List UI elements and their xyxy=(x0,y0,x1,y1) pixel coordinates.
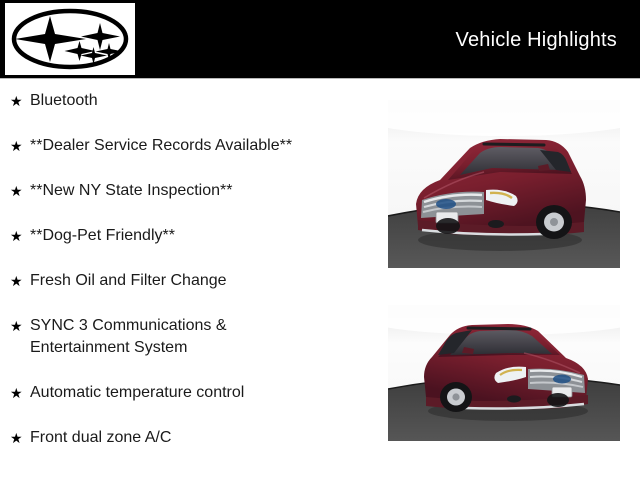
list-item: ★ Automatic temperature control xyxy=(0,382,380,404)
list-item: ★ Bluetooth xyxy=(0,90,380,112)
star-bullet-icon: ★ xyxy=(10,315,30,337)
vehicle-photo-front-left xyxy=(388,100,620,268)
list-item: ★ Fresh Oil and Filter Change xyxy=(0,270,380,292)
star-bullet-icon: ★ xyxy=(10,90,30,112)
list-item: ★ **Dog-Pet Friendly** xyxy=(0,225,380,247)
vehicle-photo-front-right-image xyxy=(388,305,620,441)
star-bullet-icon: ★ xyxy=(10,225,30,247)
vehicle-photo-front-right xyxy=(388,305,620,441)
subaru-logo-icon xyxy=(11,8,129,70)
list-item: ★ **Dealer Service Records Available** xyxy=(0,135,380,157)
feature-label: Bluetooth xyxy=(30,90,374,112)
star-bullet-icon: ★ xyxy=(10,382,30,404)
feature-label: **New NY State Inspection** xyxy=(30,180,374,202)
star-bullet-icon: ★ xyxy=(10,427,30,449)
list-item: ★ Front dual zone A/C xyxy=(0,427,380,449)
list-item: ★ SYNC 3 Communications & Entertainment … xyxy=(0,315,380,359)
feature-label: **Dog-Pet Friendly** xyxy=(30,225,374,247)
page-title: Vehicle Highlights xyxy=(456,28,617,52)
feature-label: Automatic temperature control xyxy=(30,382,374,404)
vehicle-photo-front-left-image xyxy=(388,100,620,268)
page-header: Vehicle Highlights xyxy=(0,0,640,78)
feature-label: SYNC 3 Communications & Entertainment Sy… xyxy=(30,315,374,359)
vehicle-highlights-list: ★ Bluetooth ★ **Dealer Service Records A… xyxy=(0,90,380,472)
subaru-logo xyxy=(5,3,135,75)
header-divider xyxy=(0,78,640,79)
star-bullet-icon: ★ xyxy=(10,135,30,157)
star-bullet-icon: ★ xyxy=(10,270,30,292)
feature-label: **Dealer Service Records Available** xyxy=(30,135,374,157)
star-bullet-icon: ★ xyxy=(10,180,30,202)
list-item: ★ **New NY State Inspection** xyxy=(0,180,380,202)
feature-label: Front dual zone A/C xyxy=(30,427,374,449)
feature-label: Fresh Oil and Filter Change xyxy=(30,270,374,292)
